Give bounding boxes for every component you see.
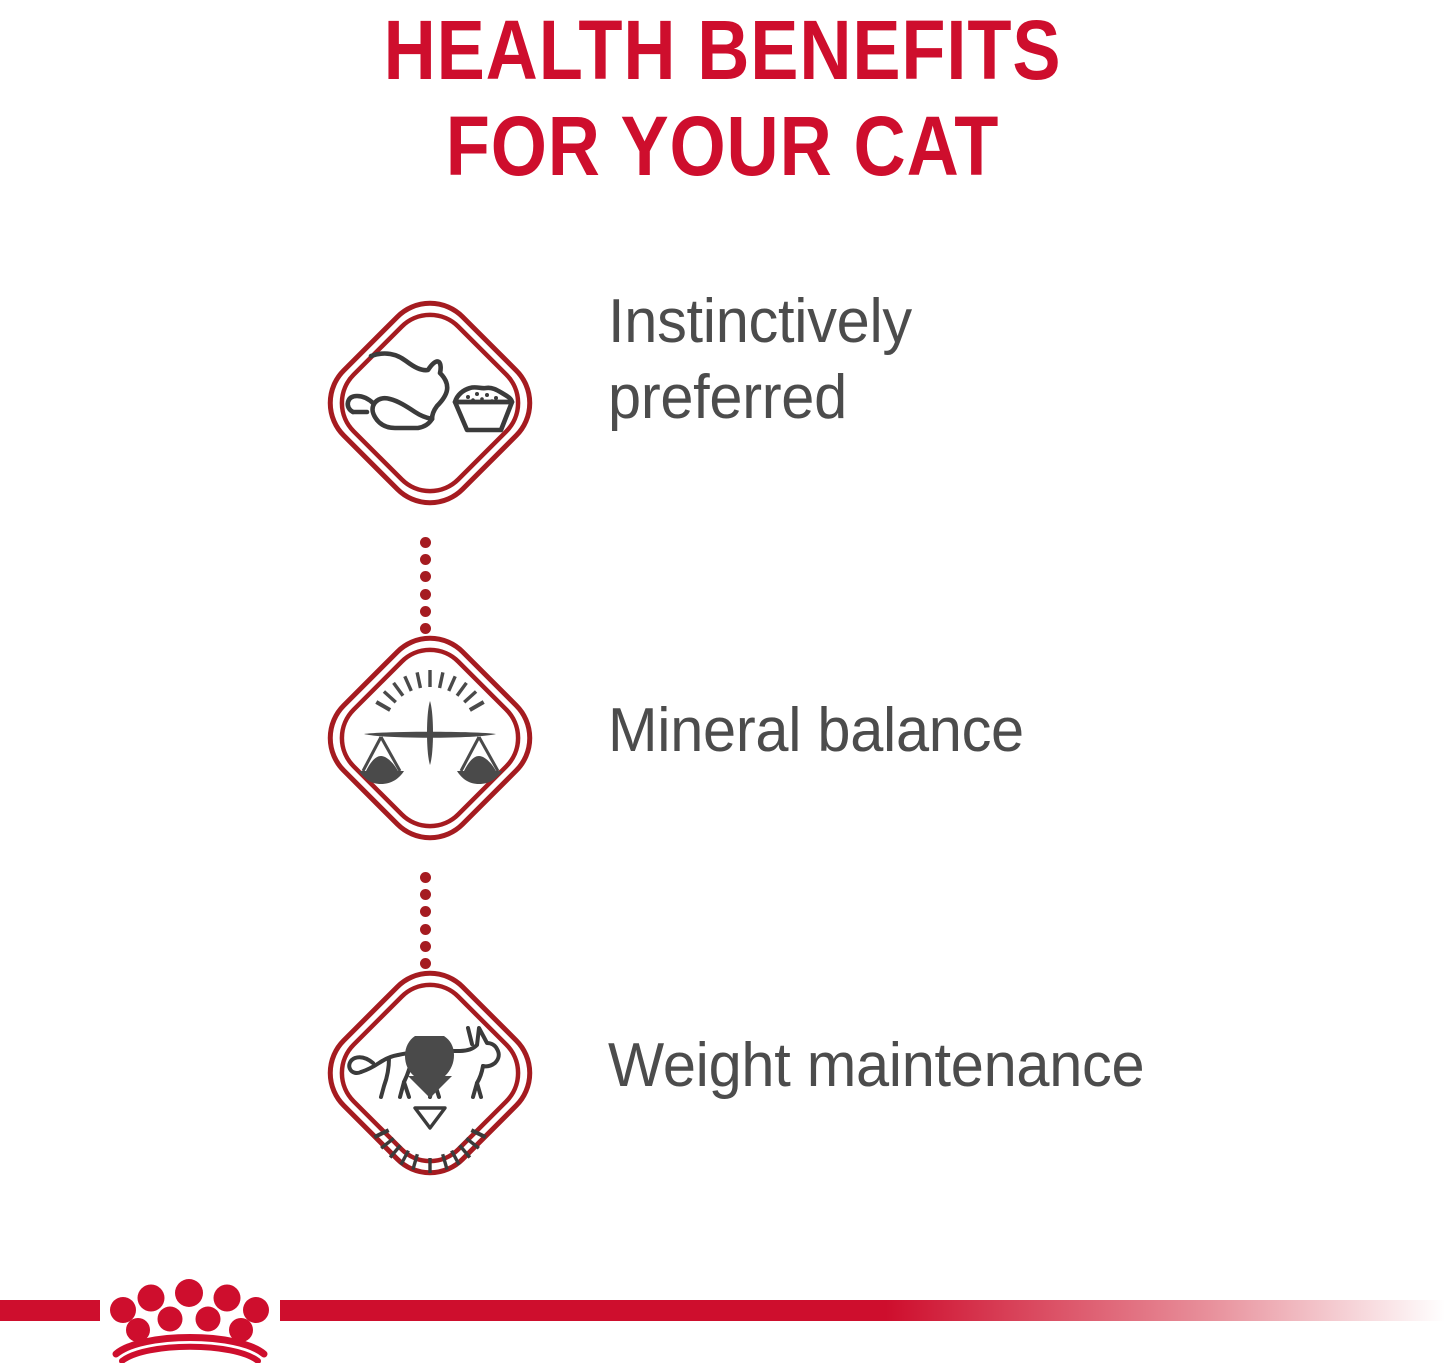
- connector-dot: [420, 889, 431, 900]
- connector-dots-2: [419, 872, 432, 969]
- footer: [0, 1264, 1445, 1363]
- page-title-line-1: HEALTH BENEFITS: [101, 2, 1344, 98]
- footer-rule-left: [0, 1300, 100, 1321]
- connector-dot: [420, 924, 431, 935]
- page-title-line-2: FOR YOUR CAT: [101, 98, 1344, 194]
- balance-scale-icon: [305, 613, 555, 863]
- connector-dot: [420, 906, 431, 917]
- connector-dot: [420, 571, 431, 582]
- connector-dot: [420, 606, 431, 617]
- connector-dot: [420, 537, 431, 548]
- connector-dot: [420, 941, 431, 952]
- connector-dot: [420, 554, 431, 565]
- benefit-label-mineral-balance: Mineral balance: [608, 693, 1024, 769]
- benefit-label-weight-maintenance: Weight maintenance: [608, 1028, 1144, 1104]
- cat-eating-bowl-icon: [305, 278, 555, 528]
- cat-weight-scale-icon: [305, 948, 555, 1198]
- benefit-label-instinctively-preferred: Instinctively preferred: [608, 284, 912, 436]
- connector-dots-1: [419, 537, 432, 634]
- royal-canin-crown-logo: [100, 1264, 280, 1363]
- footer-rule-right: [280, 1300, 1445, 1321]
- connector-dot: [420, 958, 431, 969]
- connector-dot: [420, 872, 431, 883]
- connector-dot: [420, 623, 431, 634]
- page-title: HEALTH BENEFITS FOR YOUR CAT: [0, 2, 1445, 194]
- connector-dot: [420, 589, 431, 600]
